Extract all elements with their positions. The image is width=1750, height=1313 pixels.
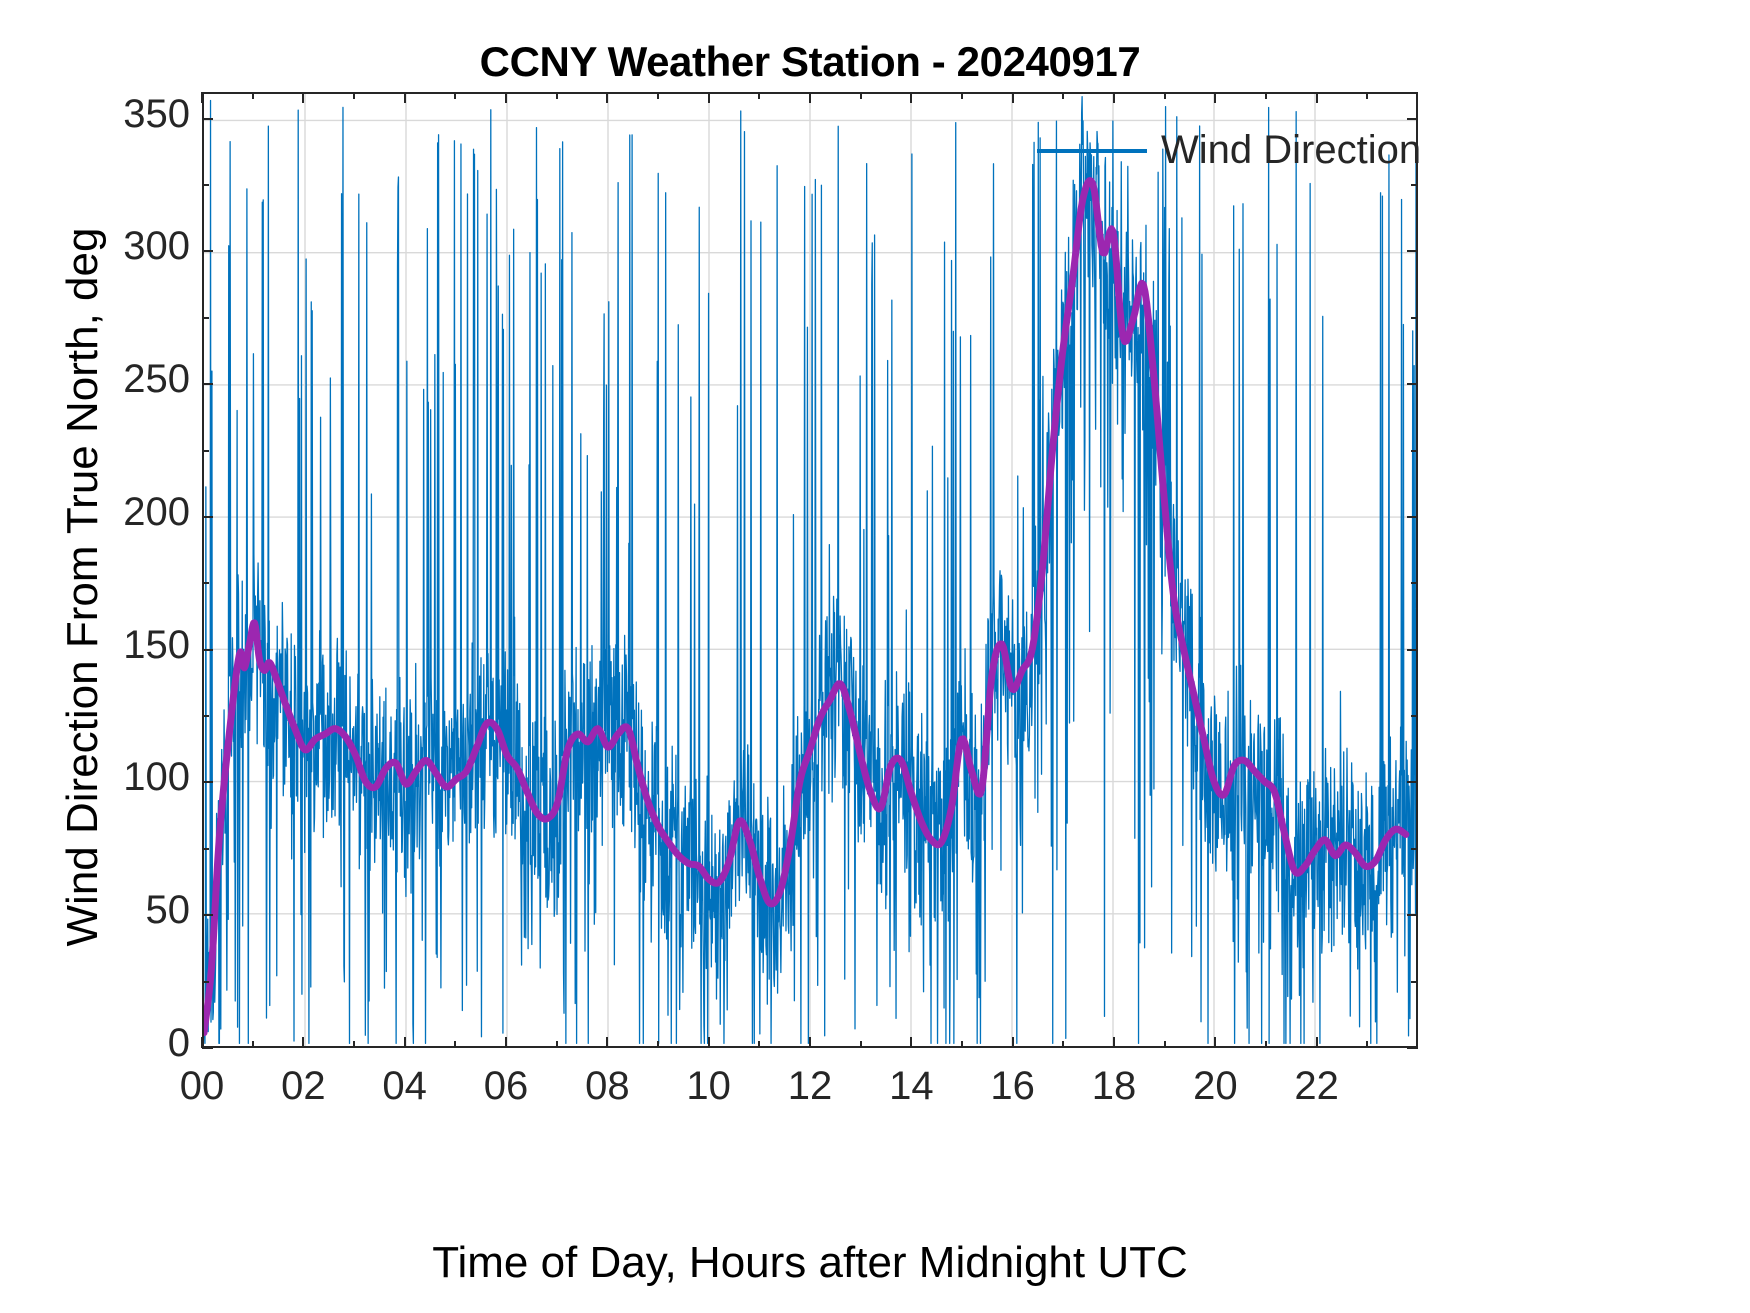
y-tick-mark xyxy=(202,450,209,452)
x-tick-mark xyxy=(809,1037,811,1048)
x-tick-mark xyxy=(1366,92,1368,99)
x-tick-mark xyxy=(657,1041,659,1048)
x-tick-mark xyxy=(556,1041,558,1048)
x-tick-mark xyxy=(201,92,203,103)
y-tick-mark xyxy=(202,118,213,120)
plot-canvas xyxy=(204,94,1416,1046)
y-tick-mark xyxy=(202,516,213,518)
x-tick-mark xyxy=(556,92,558,99)
x-tick-mark xyxy=(860,1041,862,1048)
x-axis-label: Time of Day, Hours after Midnight UTC xyxy=(202,1238,1418,1288)
legend-swatch-wind-direction xyxy=(1037,149,1147,153)
figure-canvas: CCNY Weather Station - 20240917 05010015… xyxy=(0,0,1750,1313)
y-tick-mark xyxy=(1411,450,1418,452)
x-tick-mark xyxy=(252,92,254,99)
y-tick-mark xyxy=(1407,781,1418,783)
x-tick-mark xyxy=(505,1037,507,1048)
y-tick-mark xyxy=(1411,981,1418,983)
y-axis-label: Wind Direction From True North, deg xyxy=(58,109,108,1065)
y-tick-mark xyxy=(1407,118,1418,120)
x-tick-mark xyxy=(809,92,811,103)
x-tick-mark xyxy=(353,1041,355,1048)
x-tick-mark xyxy=(454,1041,456,1048)
x-tick-mark xyxy=(1214,1037,1216,1048)
x-tick-mark xyxy=(1214,92,1216,103)
x-tick-mark xyxy=(404,1037,406,1048)
y-tick-mark xyxy=(1411,848,1418,850)
y-tick-mark xyxy=(202,981,209,983)
plot-area[interactable] xyxy=(202,92,1418,1048)
x-tick-mark xyxy=(353,92,355,99)
x-tick-mark xyxy=(454,92,456,99)
x-tick-mark xyxy=(1316,1037,1318,1048)
y-tick-mark xyxy=(1411,715,1418,717)
y-tick-mark xyxy=(1407,383,1418,385)
y-tick-mark xyxy=(202,715,209,717)
x-tick-mark xyxy=(1062,92,1064,99)
y-tick-mark xyxy=(1411,184,1418,186)
x-tick-mark xyxy=(404,92,406,103)
y-tick-mark xyxy=(1407,914,1418,916)
y-tick-mark xyxy=(202,317,209,319)
y-tick-mark xyxy=(202,184,209,186)
y-tick-mark xyxy=(202,1047,213,1049)
x-tick-mark xyxy=(1012,1037,1014,1048)
x-tick-mark xyxy=(758,92,760,99)
x-tick-mark xyxy=(1366,1041,1368,1048)
y-tick-mark xyxy=(202,582,209,584)
x-tick-mark xyxy=(1316,92,1318,103)
x-tick-mark xyxy=(910,92,912,103)
y-tick-mark xyxy=(202,383,213,385)
y-tick-mark xyxy=(202,914,213,916)
x-tick-mark xyxy=(1265,1041,1267,1048)
x-tick-mark xyxy=(1113,92,1115,103)
legend[interactable]: Wind Direction xyxy=(1037,128,1421,173)
x-tick-mark xyxy=(860,92,862,99)
y-tick-mark xyxy=(202,649,213,651)
x-tick-mark xyxy=(1012,92,1014,103)
x-tick-mark xyxy=(302,92,304,103)
y-tick-mark xyxy=(1407,649,1418,651)
x-tick-mark xyxy=(252,1041,254,1048)
x-tick-mark xyxy=(201,1037,203,1048)
legend-label-wind-direction: Wind Direction xyxy=(1161,128,1421,173)
y-tick-mark xyxy=(1411,317,1418,319)
x-tick-mark xyxy=(657,92,659,99)
y-tick-mark xyxy=(1411,582,1418,584)
x-tick-mark xyxy=(708,92,710,103)
y-tick-mark xyxy=(1407,1047,1418,1049)
x-tick-mark xyxy=(606,92,608,103)
x-tick-mark xyxy=(961,92,963,99)
y-tick-mark xyxy=(202,781,213,783)
x-tick-mark xyxy=(961,1041,963,1048)
x-tick-mark xyxy=(1164,1041,1166,1048)
x-tick-mark xyxy=(910,1037,912,1048)
x-tick-mark xyxy=(505,92,507,103)
x-tick-mark xyxy=(1164,92,1166,99)
y-tick-mark xyxy=(202,250,213,252)
page-title: CCNY Weather Station - 20240917 xyxy=(202,38,1418,86)
x-tick-mark xyxy=(708,1037,710,1048)
x-tick-mark xyxy=(1062,1041,1064,1048)
y-tick-mark xyxy=(202,848,209,850)
y-tick-mark xyxy=(1407,250,1418,252)
x-tick-mark xyxy=(606,1037,608,1048)
x-tick-mark xyxy=(1113,1037,1115,1048)
x-tick-mark xyxy=(1265,92,1267,99)
x-tick-mark xyxy=(302,1037,304,1048)
x-tick-mark xyxy=(758,1041,760,1048)
y-tick-mark xyxy=(1407,516,1418,518)
x-tick-label: 22 xyxy=(1257,1064,1377,1109)
